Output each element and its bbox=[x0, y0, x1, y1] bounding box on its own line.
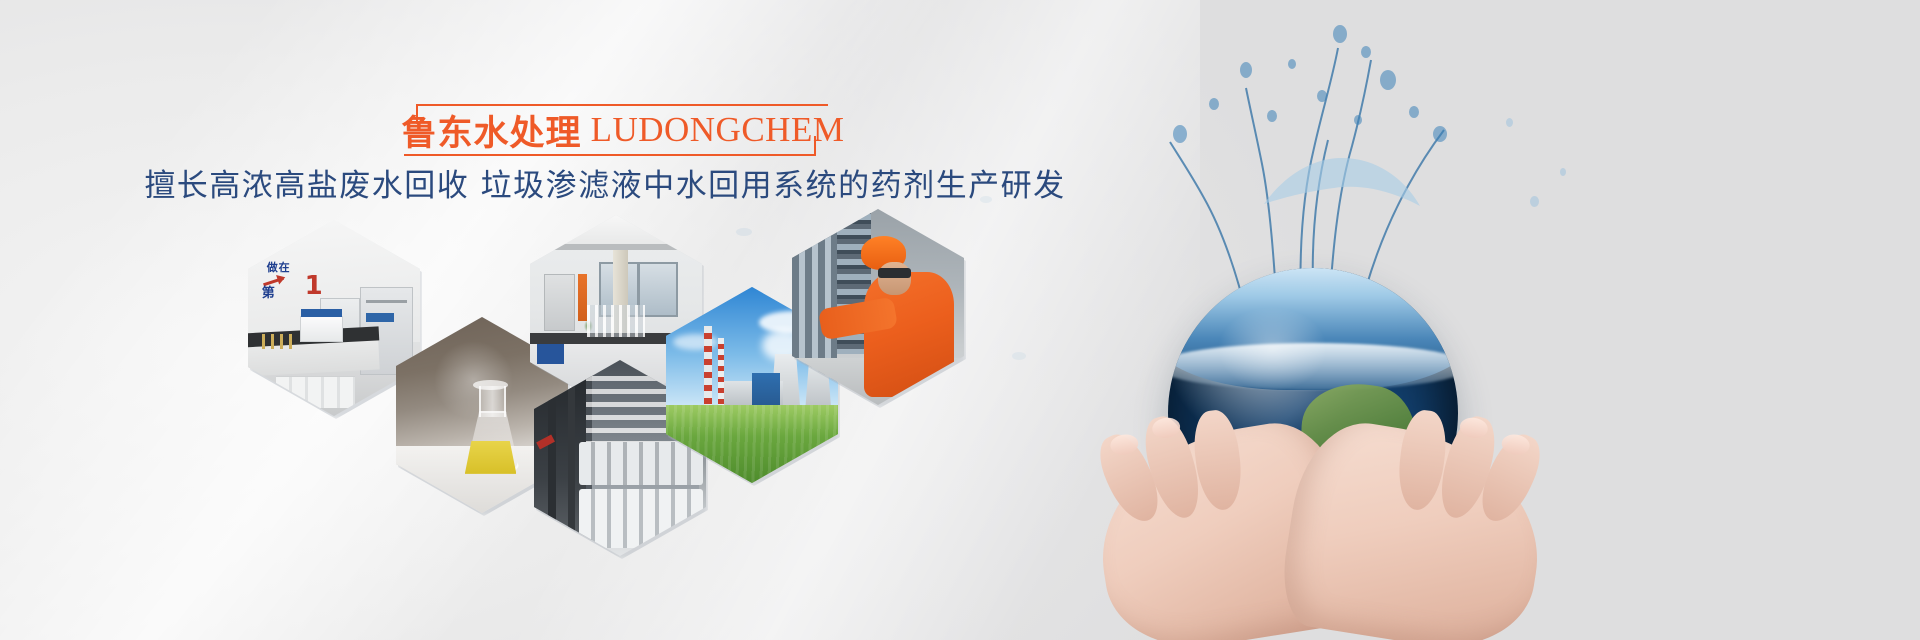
page-title: 鲁东水处理 LUDONGCHEM bbox=[418, 106, 828, 154]
ambient-droplet bbox=[980, 196, 992, 203]
hero-banner: 鲁东水处理 LUDONGCHEM 擅长高浓高盐废水回收 垃圾渗滤液中水回用系统的… bbox=[0, 0, 1920, 640]
ambient-droplet bbox=[736, 228, 752, 236]
hex-lab-equipment[interactable]: 做在 第 1 bbox=[248, 220, 420, 416]
slogan-line-2: 第 bbox=[262, 282, 275, 301]
hands-holding-globe bbox=[1100, 392, 1540, 640]
water-droplet bbox=[1530, 196, 1539, 207]
ambient-droplet bbox=[1012, 352, 1026, 360]
water-droplet bbox=[1560, 168, 1566, 176]
hexagon-photo-cluster: 做在 第 1 bbox=[240, 215, 960, 525]
page-title-cn: 鲁东水处理 bbox=[402, 105, 582, 156]
page-title-en: LUDONGCHEM bbox=[591, 110, 845, 150]
water-globe-artwork bbox=[1060, 0, 1600, 640]
slogan-number: 1 bbox=[305, 273, 323, 299]
page-subtitle: 擅长高浓高盐废水回收 垃圾渗滤液中水回用系统的药剂生产研发 bbox=[0, 160, 1210, 205]
hex-1-wall-slogan: 做在 第 1 bbox=[262, 259, 345, 310]
brand-title-block: 鲁东水处理 LUDONGCHEM bbox=[404, 104, 828, 156]
water-droplet bbox=[1506, 118, 1513, 127]
